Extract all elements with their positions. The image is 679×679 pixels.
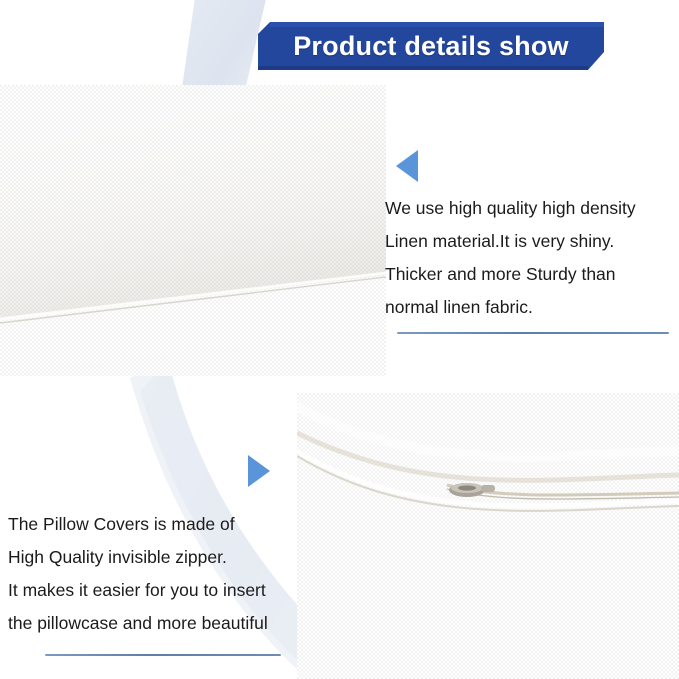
material-description: We use high quality high density Linen m… — [385, 192, 679, 324]
zipper-line-3: It makes it easier for you to insert — [8, 574, 308, 607]
product-details-page: Product details show — [0, 0, 679, 679]
material-line-3: Thicker and more Sturdy than — [385, 258, 679, 291]
linen-fabric-photo — [0, 85, 386, 376]
zipper-divider — [45, 654, 281, 656]
banner-product-details: Product details show — [258, 22, 610, 72]
zipper-line-4: the pillowcase and more beautiful — [8, 607, 308, 640]
banner-title: Product details show — [258, 22, 604, 70]
zipper-line-1: The Pillow Covers is made of — [8, 508, 308, 541]
invisible-zipper-photo — [297, 393, 679, 679]
arrow-right-icon — [248, 455, 270, 487]
zipper-description: The Pillow Covers is made of High Qualit… — [8, 508, 308, 640]
material-line-1: We use high quality high density — [385, 192, 679, 225]
material-line-2: Linen material.It is very shiny. — [385, 225, 679, 258]
material-line-4: normal linen fabric. — [385, 291, 679, 324]
zipper-line-2: High Quality invisible zipper. — [8, 541, 308, 574]
material-divider — [397, 332, 669, 334]
arrow-left-icon — [396, 150, 418, 182]
